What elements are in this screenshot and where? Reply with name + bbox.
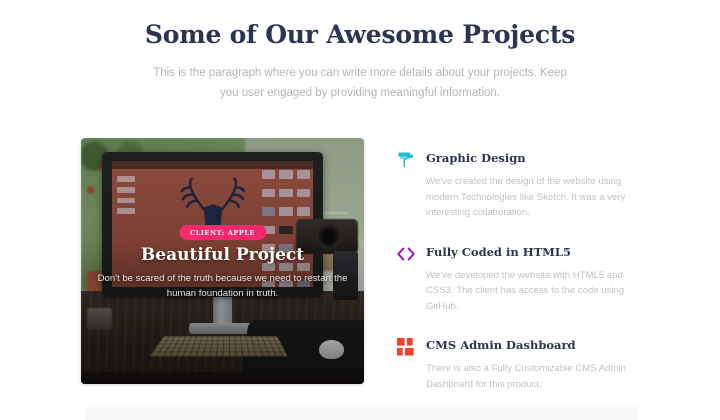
feature-list: Graphic Design We've created the design … (394, 138, 644, 392)
feature-text: We've created the design of the website … (426, 174, 644, 221)
project-description: Don't be scared of the truth because we … (89, 272, 355, 302)
page-subtitle: This is the paragraph where you can writ… (145, 63, 575, 103)
paint-roller-icon (394, 148, 418, 172)
feature-fully-coded-html5[interactable]: Fully Coded in HTML5 We've developed the… (394, 242, 644, 315)
feature-title: Graphic Design (426, 148, 644, 168)
feature-title: Fully Coded in HTML5 (426, 242, 644, 262)
feature-graphic-design[interactable]: Graphic Design We've created the design … (394, 148, 644, 221)
projects-content: CLIENT: APPLE Beautiful Project Don't be… (0, 138, 720, 392)
project-title: Beautiful Project (141, 245, 304, 265)
feature-text: There is also a Fully Customizable CMS A… (426, 361, 644, 392)
client-badge: CLIENT: APPLE (179, 225, 266, 240)
feature-title: CMS Admin Dashboard (426, 335, 644, 355)
feature-text: We've developed the website with HTML5 a… (426, 268, 644, 315)
page-header: Some of Our Awesome Projects This is the… (0, 0, 720, 103)
feature-cms-admin-dashboard[interactable]: CMS Admin Dashboard There is also a Full… (394, 335, 644, 392)
projects-page: Some of Our Awesome Projects This is the… (0, 0, 720, 420)
dashboard-grid-icon (394, 335, 418, 359)
project-card[interactable]: CLIENT: APPLE Beautiful Project Don't be… (81, 138, 364, 384)
next-section-band (85, 405, 638, 420)
code-brackets-icon (394, 242, 418, 266)
page-title: Some of Our Awesome Projects (0, 20, 720, 49)
